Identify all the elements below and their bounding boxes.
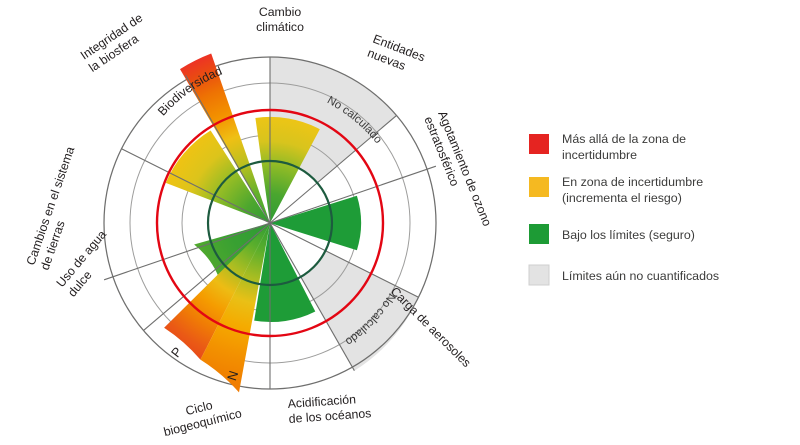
axis-label-cambio-climatico: Cambio climático <box>256 5 304 34</box>
axis-label-integridad-biosfera: Integridad de la biosfera <box>78 11 154 75</box>
axis-label-entidades-nuevas: Entidades nuevas <box>366 32 427 79</box>
planetary-boundaries-figure: Biodiversidad No calculado No calculado … <box>0 0 800 445</box>
legend-item-beyond[interactable]: Más allá de la zona de incertidumbre <box>529 132 686 162</box>
legend-swatch-uncertainty <box>529 177 549 197</box>
axis-label-cambio-climatico-l1: Cambio <box>259 5 302 19</box>
axis-label-cambio-climatico-l2: climático <box>256 20 304 34</box>
legend-item-not-quantified[interactable]: Límites aún no cuantificados <box>529 265 719 285</box>
legend-label-uncertainty-l2: (incrementa el riesgo) <box>562 191 682 205</box>
legend: Más allá de la zona de incertidumbre En … <box>529 132 719 285</box>
legend-label-uncertainty-l1: En zona de incertidumbre <box>562 175 703 189</box>
axis-label-uso-agua-dulce: Uso de agua dulce <box>54 227 121 299</box>
axis-label-agotamiento-ozono: Agotamiento de ozono estratosférico <box>421 109 494 234</box>
axis-label-acidificacion-oceanos: Acidificación de los océanos <box>287 391 372 426</box>
wedge-label-fosforo: P <box>168 344 185 360</box>
legend-item-safe[interactable]: Bajo los límites (seguro) <box>529 224 695 244</box>
legend-label-beyond-l1: Más allá de la zona de <box>562 132 686 146</box>
legend-swatch-safe <box>529 224 549 244</box>
legend-swatch-beyond <box>529 134 549 154</box>
axis-label-ciclo-biogeoquimico: Ciclo biogeoquímico <box>159 392 244 440</box>
legend-item-uncertainty[interactable]: En zona de incertidumbre (incrementa el … <box>529 175 703 205</box>
legend-label-beyond-l2: incertidumbre <box>562 148 637 162</box>
legend-swatch-not-quantified <box>529 265 549 285</box>
legend-label-not-quantified-l1: Límites aún no cuantificados <box>562 269 719 283</box>
legend-label-safe-l1: Bajo los límites (seguro) <box>562 228 695 242</box>
